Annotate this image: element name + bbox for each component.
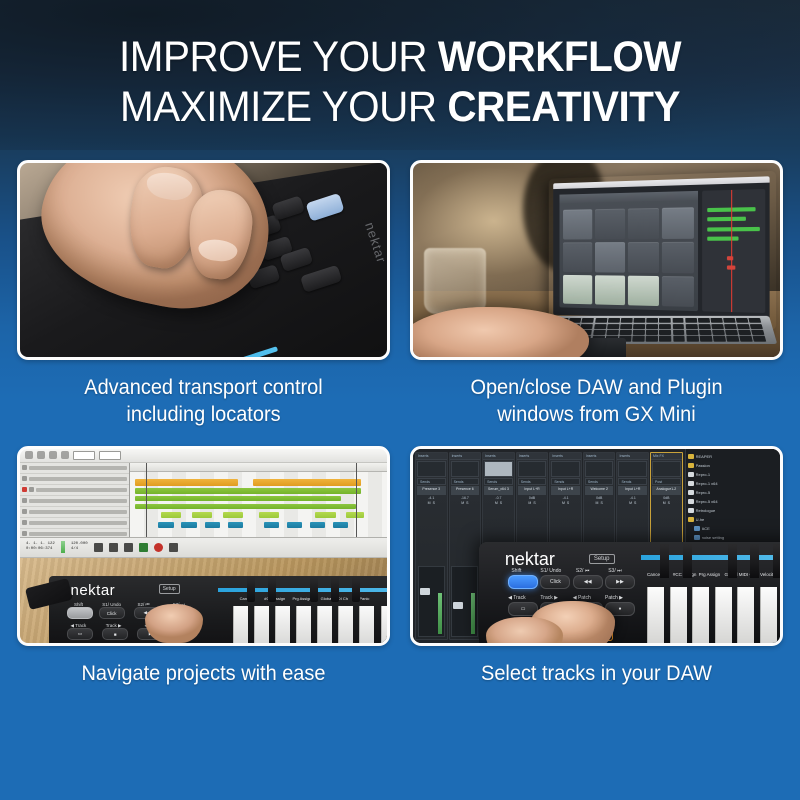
audio-clip <box>708 226 761 231</box>
snap-selector[interactable] <box>73 451 95 460</box>
midi-region[interactable] <box>135 479 238 486</box>
track-db: -4.1 <box>550 496 581 500</box>
piano-black-key[interactable] <box>750 544 759 578</box>
piano-white-key[interactable] <box>647 587 664 643</box>
plugin-titlebar <box>560 191 699 203</box>
nektar-control-panel: nektar Setup Shift S1/ Undo S2/ ⏮ S3/ ⏭ … <box>49 576 387 643</box>
sends-slot[interactable]: Sends <box>585 478 614 485</box>
track-name[interactable]: Input L+R <box>551 486 580 495</box>
grid-selector[interactable] <box>99 451 121 460</box>
audio-clip <box>728 265 737 269</box>
key-label-cancel: Cancel <box>647 572 661 577</box>
piano-black-key[interactable] <box>728 544 737 578</box>
fingernail <box>145 169 195 203</box>
track-row[interactable] <box>20 507 129 518</box>
photo-transport-control: nektar <box>17 160 390 360</box>
label-shift: Shift <box>511 568 521 574</box>
browser-item-label: Repro-5 <box>696 490 710 495</box>
mute-solo[interactable]: MS <box>550 501 581 505</box>
piano-white-key[interactable] <box>359 606 374 643</box>
draw-tool-icon[interactable] <box>37 451 45 459</box>
midi-region[interactable] <box>161 512 182 518</box>
plugin-module <box>595 241 625 271</box>
midi-region[interactable] <box>264 522 279 528</box>
piano-white-key[interactable] <box>317 606 332 643</box>
track-name[interactable]: Welcome 2 <box>585 486 614 495</box>
mute-solo[interactable]: MS <box>651 501 682 505</box>
track-row[interactable] <box>20 518 129 529</box>
shift-button[interactable] <box>300 265 342 293</box>
plugin-module <box>662 241 694 272</box>
plugin-icon <box>688 490 694 495</box>
browser-item-label: Repro-1 x64 <box>696 481 718 486</box>
caption-select-tracks: Select tracks in your DAW <box>419 660 773 687</box>
transport-button-record[interactable] <box>306 193 345 221</box>
s1-undo-button[interactable]: Click <box>540 575 570 589</box>
nektar-controller-overlay: nektar Setup Shift S1/ Undo S2/ ⏮ S3/ ⏭ … <box>479 542 783 643</box>
label-s2-prev: S2/ ⏮ <box>137 602 149 607</box>
browser-item-label: Passion <box>696 463 710 468</box>
plugin-module <box>628 207 659 238</box>
feature-cell-navigate-projects: 4. 1. 1. 122 0:00:06:374 120.000 4/4 <box>17 446 390 687</box>
track-list <box>20 463 130 537</box>
browser-item[interactable]: Retrologue <box>688 506 778 515</box>
forward-button[interactable] <box>109 543 118 552</box>
key-label-panic: Panic <box>359 597 369 602</box>
plugin-module <box>662 275 694 307</box>
feature-row-bottom: 4. 1. 1. 122 0:00:06:374 120.000 4/4 <box>0 446 800 687</box>
sends-slot[interactable]: Sends <box>618 478 647 485</box>
play-button[interactable] <box>139 543 148 552</box>
sends-slot[interactable]: Sends <box>451 478 480 485</box>
piano-black-key[interactable] <box>773 544 782 578</box>
track-next-button[interactable]: ■ <box>102 628 128 640</box>
piano-white-key[interactable] <box>381 606 387 643</box>
headline-line-1-plain: IMPROVE YOUR <box>119 33 438 81</box>
post-slot[interactable]: Post <box>652 478 681 485</box>
mixer-strip[interactable]: Inserts Sends Presence 3 -4.1 MS <box>415 452 448 640</box>
piano-white-key[interactable] <box>254 606 269 643</box>
label-shift: Shift <box>74 602 83 607</box>
thumb <box>145 604 204 643</box>
headline-line-2-bold: CREATIVITY <box>447 83 680 131</box>
plugin-icon <box>694 535 700 540</box>
zoom-tool-icon[interactable] <box>49 451 57 459</box>
inserts-header[interactable]: Inserts <box>517 453 548 460</box>
track-row[interactable] <box>20 496 129 507</box>
keyboard-photo: nektar Setup Shift S1/ Undo S2/ ⏮ S3/ ⏭ … <box>20 558 387 643</box>
headline-line-1: IMPROVE YOUR WORKFLOW <box>37 32 763 82</box>
plugin-modules <box>563 207 693 307</box>
fingernail <box>197 238 238 263</box>
folder-icon <box>688 454 694 459</box>
menu-bar <box>554 176 771 189</box>
browser-item-label: Repro-5 x64 <box>696 499 718 504</box>
piano-white-key[interactable] <box>275 606 290 643</box>
midi-region[interactable] <box>287 522 302 528</box>
audio-clip <box>708 236 739 240</box>
plugin-module <box>563 209 592 239</box>
inserts-header[interactable]: Inserts <box>550 453 581 460</box>
midi-region[interactable] <box>181 522 196 528</box>
piano-black-key[interactable] <box>247 576 255 601</box>
mute-solo[interactable]: MS <box>483 501 514 505</box>
inserts-slot[interactable] <box>618 461 647 477</box>
sends-slot[interactable]: Sends <box>417 478 446 485</box>
shift-button[interactable] <box>67 607 93 619</box>
piano-black-key[interactable] <box>660 544 669 578</box>
inserts-slot[interactable] <box>484 461 513 477</box>
mute-solo[interactable]: MS <box>517 501 548 505</box>
folder-icon <box>688 463 694 468</box>
left-locator[interactable] <box>146 463 147 537</box>
track-name[interactable]: Serum_x64 3 <box>484 486 513 495</box>
piano-white-key[interactable] <box>692 587 709 643</box>
browser-item-label: Repro-1 <box>696 472 710 477</box>
audio-region[interactable] <box>135 496 341 501</box>
time-signature: 4/4 <box>71 547 88 552</box>
piano-white-key[interactable] <box>737 587 754 643</box>
audio-clip <box>708 207 757 212</box>
setup-button[interactable]: Setup <box>159 584 180 594</box>
piano-white-key[interactable] <box>760 587 777 643</box>
daw-transport-bar: 4. 1. 1. 122 0:00:06:374 120.000 4/4 <box>20 537 387 556</box>
piano-white-key[interactable] <box>296 606 311 643</box>
browser-item[interactable]: U-he <box>688 515 778 524</box>
browser-item[interactable]: Repro-1 <box>688 470 778 479</box>
drinking-glass <box>424 248 486 314</box>
plugin-envelope <box>563 274 592 304</box>
nektar-logo: nektar <box>70 582 115 599</box>
browser-item[interactable]: Passion <box>688 461 778 470</box>
key-label-prg-assign: Prg Assign <box>699 572 721 577</box>
midi-region[interactable] <box>310 522 325 528</box>
level-meter <box>61 541 65 553</box>
shift-button[interactable] <box>508 575 538 589</box>
right-locator[interactable] <box>356 463 357 537</box>
piano-white-key[interactable] <box>715 587 732 643</box>
track-name[interactable]: Input L+R <box>518 486 547 495</box>
inserts-slot[interactable] <box>585 461 614 477</box>
label-s2-prev: S2/ ⏮ <box>576 568 589 574</box>
record-button[interactable] <box>154 543 163 552</box>
daw-body <box>20 463 387 537</box>
label-s1-undo: S1/ Undo <box>102 602 121 607</box>
midi-region[interactable] <box>192 512 213 518</box>
midi-region[interactable] <box>253 479 361 486</box>
inserts-slot[interactable] <box>417 461 446 477</box>
inserts-slot[interactable] <box>551 461 580 477</box>
track-db: -4.1 <box>416 496 447 500</box>
s3-next-button[interactable]: ▶▶ <box>605 575 635 589</box>
caption-line-1: Advanced transport control <box>26 374 380 401</box>
s1-undo-button[interactable]: Click <box>99 607 125 619</box>
feature-cell-daw-plugin-windows: Open/close DAW and Plugin windows from G… <box>410 160 783 428</box>
caption-line-1: Navigate projects with ease <box>26 660 380 687</box>
pointer-tool-icon[interactable] <box>25 451 33 459</box>
arrange-view <box>703 189 766 312</box>
inserts-slot[interactable] <box>451 461 480 477</box>
browser-item[interactable]: Repro-1 x64 <box>688 479 778 488</box>
track-prev-button[interactable]: ▭ <box>67 628 93 640</box>
photo-navigate-projects: 4. 1. 1. 122 0:00:06:374 120.000 4/4 <box>17 446 390 646</box>
headline-line-2: MAXIMIZE YOUR CREATIVITY <box>37 82 763 132</box>
piano-black-key[interactable] <box>310 576 318 601</box>
feature-grid: nektar <box>0 160 800 687</box>
track-row[interactable] <box>20 485 129 496</box>
headline: IMPROVE YOUR WORKFLOW MAXIMIZE YOUR CREA… <box>0 32 800 132</box>
plugin-icon <box>688 508 694 513</box>
piano-black-key[interactable] <box>331 576 339 601</box>
midi-region[interactable] <box>315 512 336 518</box>
midi-region[interactable] <box>205 522 220 528</box>
piano-black-key[interactable] <box>268 576 276 601</box>
inserts-header[interactable]: Inserts <box>450 453 481 460</box>
browser-item[interactable]: Repro-5 <box>688 488 778 497</box>
plugin-module <box>563 242 592 272</box>
inserts-header[interactable]: Inserts <box>483 453 514 460</box>
folder-icon <box>688 517 694 522</box>
piano-white-key[interactable] <box>233 606 248 643</box>
track-db: -16.7 <box>450 496 481 500</box>
piano-white-key[interactable] <box>670 587 687 643</box>
midi-region[interactable] <box>346 512 364 518</box>
transport-button-play[interactable] <box>271 196 305 221</box>
label-track-next: Track ▶ <box>540 595 558 601</box>
timeline[interactable] <box>130 463 387 537</box>
track-name[interactable]: Presence 3 <box>417 486 446 495</box>
finger <box>486 617 564 646</box>
mixer-strip[interactable]: Inserts Sends Presence 6 -16.7 MS <box>449 452 482 640</box>
plugin-envelope <box>595 274 625 305</box>
caption-daw-plugin-windows: Open/close DAW and Plugin windows from G… <box>419 374 773 428</box>
laptop-lid <box>549 170 777 330</box>
track-db: 0dB <box>651 496 682 500</box>
audio-clip <box>708 217 747 222</box>
caption-line-2: windows from GX Mini <box>419 401 773 428</box>
sends-slot[interactable]: Sends <box>551 478 580 485</box>
poster-root: IMPROVE YOUR WORKFLOW MAXIMIZE YOUR CREA… <box>0 0 800 800</box>
sends-slot[interactable]: Sends <box>518 478 547 485</box>
inserts-header[interactable]: Inserts <box>416 453 447 460</box>
mute-solo[interactable]: MS <box>416 501 447 505</box>
plugin-envelope <box>628 275 659 306</box>
caption-line-2: including locators <box>26 401 380 428</box>
midi-region[interactable] <box>259 512 280 518</box>
time-ruler[interactable] <box>130 463 387 472</box>
transport-time: 4. 1. 1. 122 0:00:06:374 <box>26 542 55 552</box>
cycle-button[interactable] <box>169 543 178 552</box>
track-db: -0.7 <box>483 496 514 500</box>
feature-cell-transport-control: nektar <box>17 160 390 428</box>
track-name[interactable]: Input L+R <box>618 486 647 495</box>
track-name[interactable]: Analogue1-2 <box>652 486 681 495</box>
piano-black-key[interactable] <box>683 544 692 578</box>
led-strip <box>218 588 387 592</box>
sends-slot[interactable]: Sends <box>484 478 513 485</box>
stop-button[interactable] <box>124 543 133 552</box>
audio-region[interactable] <box>135 504 356 509</box>
caption-navigate-projects: Navigate projects with ease <box>26 660 380 687</box>
plugin-icon <box>688 499 694 504</box>
browser-item-label: Retrologue <box>696 508 716 513</box>
plugin-icon <box>688 481 694 486</box>
track-db: 0dB <box>517 496 548 500</box>
track-db: -4.1 <box>617 496 648 500</box>
plugin-module <box>628 241 659 272</box>
feature-row-top: nektar <box>0 160 800 428</box>
browser-item[interactable]: REAPER <box>688 452 778 461</box>
browser-item-label: REAPER <box>696 454 712 459</box>
inserts-header[interactable]: Inserts <box>617 453 648 460</box>
headline-line-1-bold: WORKFLOW <box>438 33 681 81</box>
plugin-window <box>560 191 699 311</box>
midi-region[interactable] <box>158 522 173 528</box>
headline-line-2-plain: MAXIMIZE YOUR <box>120 83 447 131</box>
label-s3-next: S3/ ⏭ <box>608 568 621 574</box>
label-track-prev: ◀ Track <box>508 595 525 601</box>
setup-button[interactable]: Setup <box>589 554 615 564</box>
audio-region[interactable] <box>135 488 361 494</box>
midi-region[interactable] <box>228 522 243 528</box>
key-label-prg-assign: Prg Assign <box>292 597 311 602</box>
track-row[interactable] <box>20 463 129 474</box>
inserts-header[interactable]: Inserts <box>584 453 615 460</box>
photo-daw-plugin-windows <box>410 160 783 360</box>
caption-line-1: Select tracks in your DAW <box>419 660 773 687</box>
browser-item[interactable]: Repro-5 x64 <box>688 497 778 506</box>
browser-item[interactable]: ACE <box>688 524 778 533</box>
inserts-slot[interactable] <box>652 461 681 477</box>
plugin-module <box>595 208 625 239</box>
daw-toolbar[interactable] <box>20 449 387 463</box>
plugin-icon <box>694 526 700 531</box>
track-db: 0dB <box>584 496 615 500</box>
label-s1-undo: S1/ Undo <box>540 568 561 574</box>
photo-select-tracks: Inserts Sends Presence 3 -4.1 MS Inserts <box>410 446 783 646</box>
mute-tool-icon[interactable] <box>61 451 69 459</box>
tempo-display: 120.000 4/4 <box>71 542 88 552</box>
fader[interactable] <box>451 566 478 637</box>
browser-item-label: noise setting <box>702 535 724 540</box>
daw-arrangement-window: 4. 1. 1. 122 0:00:06:374 120.000 4/4 <box>20 449 387 558</box>
secondary-time: 0:00:06:374 <box>26 547 55 552</box>
track-row[interactable] <box>20 474 129 485</box>
piano-black-key[interactable] <box>352 576 360 601</box>
midi-region[interactable] <box>333 522 348 528</box>
caption-line-1: Open/close DAW and Plugin <box>419 374 773 401</box>
midi-region[interactable] <box>223 512 244 518</box>
feature-cell-select-tracks: Inserts Sends Presence 3 -4.1 MS Inserts <box>410 446 783 687</box>
laptop <box>541 175 772 326</box>
plugin-module <box>662 207 694 239</box>
browser-item[interactable]: noise setting <box>688 533 778 542</box>
master-fx-header[interactable]: Mix FX <box>651 453 682 460</box>
laptop-screen <box>554 176 771 322</box>
mute-solo[interactable]: MS <box>617 501 648 505</box>
nektar-logo: nektar <box>505 549 555 570</box>
inserts-slot[interactable] <box>518 461 547 477</box>
led-strip <box>169 346 278 360</box>
browser-item-label: U-he <box>696 517 705 522</box>
track-name[interactable]: Presence 6 <box>451 486 480 495</box>
fader[interactable] <box>418 566 445 637</box>
piano-white-key[interactable] <box>338 606 353 643</box>
plugin-icon <box>688 472 694 477</box>
caption-transport-control: Advanced transport control including loc… <box>26 374 380 428</box>
nektar-logo-side: nektar <box>362 220 389 265</box>
label-patch-prev: ◀ Patch <box>573 595 591 601</box>
browser-item-label: ACE <box>702 526 710 531</box>
label-patch-next: Patch ▶ <box>605 595 623 601</box>
s2-prev-button[interactable]: ◀◀ <box>573 575 603 589</box>
rewind-button[interactable] <box>94 543 103 552</box>
mute-solo[interactable]: MS <box>584 501 615 505</box>
mute-solo[interactable]: MS <box>450 501 481 505</box>
